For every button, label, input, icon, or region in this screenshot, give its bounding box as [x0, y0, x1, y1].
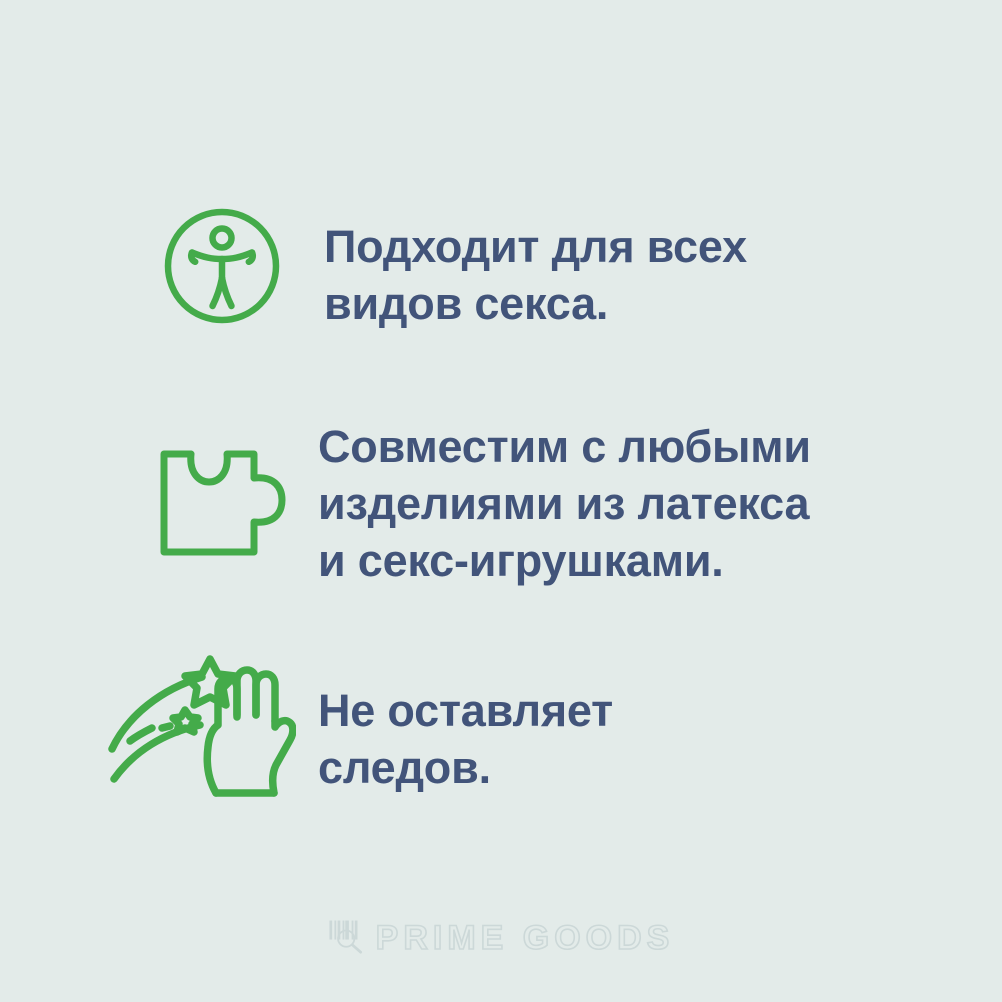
feature-item-3: Не оставляет следов.	[106, 655, 613, 805]
puzzle-piece-icon	[158, 418, 286, 558]
feature-item-2: Совместим с любыми изделиями из латекса …	[158, 418, 811, 589]
watermark: PRIME GOODS	[0, 916, 1002, 959]
feature-item-1: Подходит для всех видов секса.	[164, 206, 747, 332]
promo-slide: Подходит для всех видов секса. Совместим…	[0, 0, 1002, 1002]
feature-label-1: Подходит для всех видов секса.	[324, 218, 747, 332]
feature-label-3: Не оставляет следов.	[318, 682, 613, 796]
accessibility-person-circle-icon	[164, 206, 280, 328]
sparkling-hand-icon	[106, 655, 296, 805]
feature-label-2: Совместим с любыми изделиями из латекса …	[318, 418, 811, 589]
watermark-label: PRIME GOODS	[376, 917, 675, 959]
barcode-magnifier-icon	[328, 916, 368, 959]
